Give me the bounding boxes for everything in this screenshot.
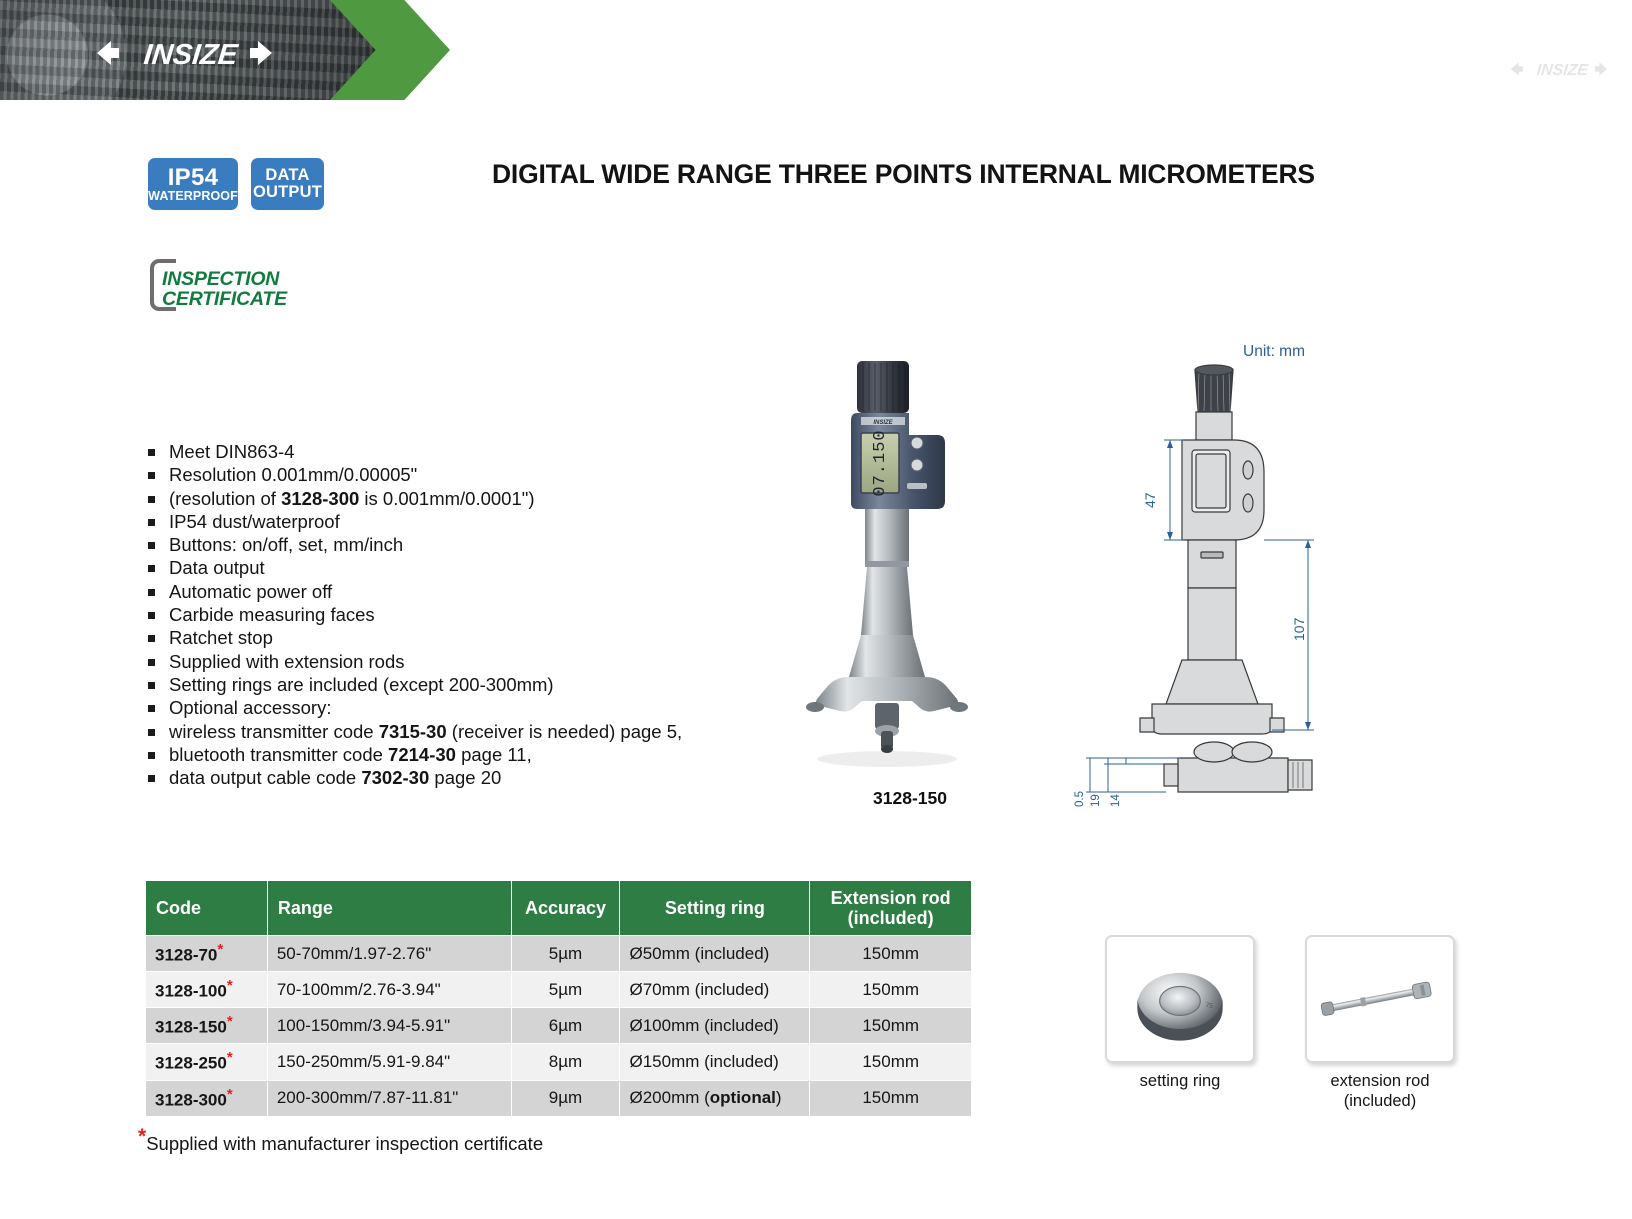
- cell-setting-ring: Ø150mm (included): [620, 1044, 810, 1080]
- table-row: 3128-70*50-70mm/1.97-2.76"5µmØ50mm (incl…: [146, 936, 972, 972]
- feature-subline: wireless transmitter code 7315-30 (recei…: [146, 720, 786, 743]
- feature-code: 7302-30: [361, 767, 429, 788]
- badge-ip54-subtitle: WATERPROOF: [148, 190, 238, 203]
- svg-text:INSIZE: INSIZE: [1536, 62, 1590, 79]
- page-header: INSIZE INSIZE: [0, 0, 1632, 103]
- feature-code: 7214-30: [388, 744, 456, 765]
- accessory-setting-ring: 75 setting ring: [1105, 935, 1255, 1092]
- setting-ring-availability: included: [710, 1016, 773, 1035]
- feature-code: 7315-30: [379, 721, 447, 742]
- feature-item: Supplied with extension rods: [146, 650, 786, 673]
- cell-setting-ring: Ø50mm (included): [620, 936, 810, 972]
- feature-item: Ratchet stop: [146, 626, 786, 649]
- certificate-line1: INSPECTION: [162, 270, 287, 290]
- cell-extension-rod: 150mm: [810, 972, 972, 1008]
- header-extension-rod: Extension rod (included): [810, 881, 972, 936]
- inspection-certificate-logo: INSPECTION CERTIFICATE: [148, 258, 338, 320]
- dimension-19: 19: [1090, 794, 1102, 807]
- insize-watermark-logo: INSIZE: [1504, 58, 1614, 80]
- cell-code: 3128-100*: [146, 972, 268, 1008]
- cell-range: 100-150mm/3.94-5.91": [267, 1008, 511, 1044]
- badge-data-output: DATA OUTPUT: [251, 158, 324, 210]
- dimension-14: 14: [1110, 794, 1122, 807]
- certificate-line2: CERTIFICATE: [162, 290, 287, 310]
- cell-extension-rod: 150mm: [810, 936, 972, 972]
- cell-accuracy: 5µm: [511, 972, 620, 1008]
- setting-ring-availability: included: [700, 980, 763, 999]
- feature-subline: (resolution of 3128-300 is 0.001mm/0.000…: [146, 487, 786, 510]
- certificate-star-icon: *: [227, 1049, 233, 1066]
- feature-item: Data output: [146, 556, 786, 579]
- feature-subline: bluetooth transmitter code 7214-30 page …: [146, 743, 786, 766]
- feature-item: Automatic power off: [146, 580, 786, 603]
- badge-data-subtitle: OUTPUT: [253, 184, 322, 201]
- certificate-text: INSPECTION CERTIFICATE: [162, 270, 287, 310]
- cell-extension-rod: 150mm: [810, 1080, 972, 1116]
- cell-setting-ring: Ø200mm (optional): [620, 1080, 810, 1116]
- svg-text:INSIZE: INSIZE: [142, 39, 240, 71]
- cell-range: 200-300mm/7.87-11.81": [267, 1080, 511, 1116]
- footnote-text: Supplied with manufacturer inspection ce…: [146, 1133, 543, 1154]
- feature-item: Optional accessory:: [146, 696, 786, 719]
- header-accuracy: Accuracy: [511, 881, 620, 936]
- setting-ring-caption: setting ring: [1105, 1072, 1255, 1092]
- cell-accuracy: 5µm: [511, 936, 620, 972]
- dimension-107: 107: [1291, 618, 1307, 641]
- certificate-star-icon: *: [227, 1013, 233, 1030]
- dimension-47: 47: [1142, 492, 1158, 508]
- product-caption: 3128-150: [795, 788, 1025, 809]
- setting-ring-availability: included: [710, 1052, 773, 1071]
- cell-code: 3128-250*: [146, 1044, 268, 1080]
- cell-accuracy: 9µm: [511, 1080, 620, 1116]
- table-footnote: *Supplied with manufacturer inspection c…: [138, 1125, 543, 1155]
- technical-drawing: [1060, 340, 1390, 810]
- feature-item: IP54 dust/waterproof: [146, 510, 786, 533]
- cell-accuracy: 6µm: [511, 1008, 620, 1044]
- table-row: 3128-300*200-300mm/7.87-11.81"9µmØ200mm …: [146, 1080, 972, 1116]
- feature-subline: data output cable code 7302-30 page 20: [146, 766, 786, 789]
- feature-item: Meet DIN863-4: [146, 440, 786, 463]
- setting-ring-icon: 75: [1107, 937, 1253, 1061]
- feature-item: Carbide measuring faces: [146, 603, 786, 626]
- cell-setting-ring: Ø100mm (included): [620, 1008, 810, 1044]
- accessory-extension-rod: extension rod (included): [1305, 935, 1455, 1112]
- setting-ring-image-box: 75: [1105, 935, 1255, 1063]
- cell-range: 70-100mm/2.76-3.94": [267, 972, 511, 1008]
- footnote-star: *: [138, 1125, 146, 1148]
- svg-text:07.150: 07.150: [871, 429, 890, 496]
- feature-list: Meet DIN863-4Resolution 0.001mm/0.00005"…: [146, 440, 786, 789]
- table-row: 3128-250*150-250mm/5.91-9.84"8µmØ150mm (…: [146, 1044, 972, 1080]
- table-row: 3128-150*100-150mm/3.94-5.91"6µmØ100mm (…: [146, 1008, 972, 1044]
- cell-extension-rod: 150mm: [810, 1044, 972, 1080]
- setting-ring-availability: included: [700, 944, 763, 963]
- specification-table: Code Range Accuracy Setting ring Extensi…: [145, 880, 972, 1117]
- cell-extension-rod: 150mm: [810, 1008, 972, 1044]
- header-extension-rod-line1: Extension rod: [831, 888, 951, 908]
- feature-item: Setting rings are included (except 200-3…: [146, 673, 786, 696]
- header-code: Code: [146, 881, 268, 936]
- extension-rod-caption: extension rod (included): [1305, 1072, 1455, 1112]
- extension-rod-caption-line1: extension rod: [1305, 1072, 1455, 1092]
- header-setting-ring: Setting ring: [620, 881, 810, 936]
- cell-code: 3128-150*: [146, 1008, 268, 1044]
- header-range: Range: [267, 881, 511, 936]
- certificate-star-icon: *: [227, 1086, 233, 1103]
- certificate-star-icon: *: [227, 977, 233, 994]
- badge-ip54-waterproof: IP54 WATERPROOF: [148, 158, 238, 210]
- table-row: 3128-100*70-100mm/2.76-3.94"5µmØ70mm (in…: [146, 972, 972, 1008]
- table-header-row: Code Range Accuracy Setting ring Extensi…: [146, 881, 972, 936]
- product-photo-3128-150: INSIZE 07.150: [795, 355, 1025, 775]
- cell-range: 50-70mm/1.97-2.76": [267, 936, 511, 972]
- header-extension-rod-line2: (included): [848, 908, 934, 928]
- certificate-star-icon: *: [217, 941, 223, 958]
- cell-code: 3128-70*: [146, 936, 268, 972]
- setting-ring-availability: optional: [710, 1088, 776, 1107]
- feature-badges: IP54 WATERPROOF DATA OUTPUT: [148, 158, 324, 210]
- extension-rod-caption-line2: (included): [1305, 1092, 1455, 1112]
- page-title: DIGITAL WIDE RANGE THREE POINTS INTERNAL…: [492, 159, 1492, 190]
- feature-item: Buttons: on/off, set, mm/inch: [146, 533, 786, 556]
- feature-code: 3128-300: [281, 488, 359, 509]
- extension-rod-image-box: [1305, 935, 1455, 1063]
- insize-logo: INSIZE: [97, 33, 272, 73]
- extension-rod-icon: [1307, 937, 1453, 1061]
- cell-accuracy: 8µm: [511, 1044, 620, 1080]
- dimension-0-5: 0.5: [1074, 791, 1086, 807]
- badge-ip54-title: IP54: [168, 165, 219, 190]
- svg-text:INSIZE: INSIZE: [873, 420, 893, 426]
- cell-range: 150-250mm/5.91-9.84": [267, 1044, 511, 1080]
- cell-setting-ring: Ø70mm (included): [620, 972, 810, 1008]
- feature-item: Resolution 0.001mm/0.00005": [146, 463, 786, 486]
- cell-code: 3128-300*: [146, 1080, 268, 1116]
- badge-data-title: DATA: [265, 167, 309, 184]
